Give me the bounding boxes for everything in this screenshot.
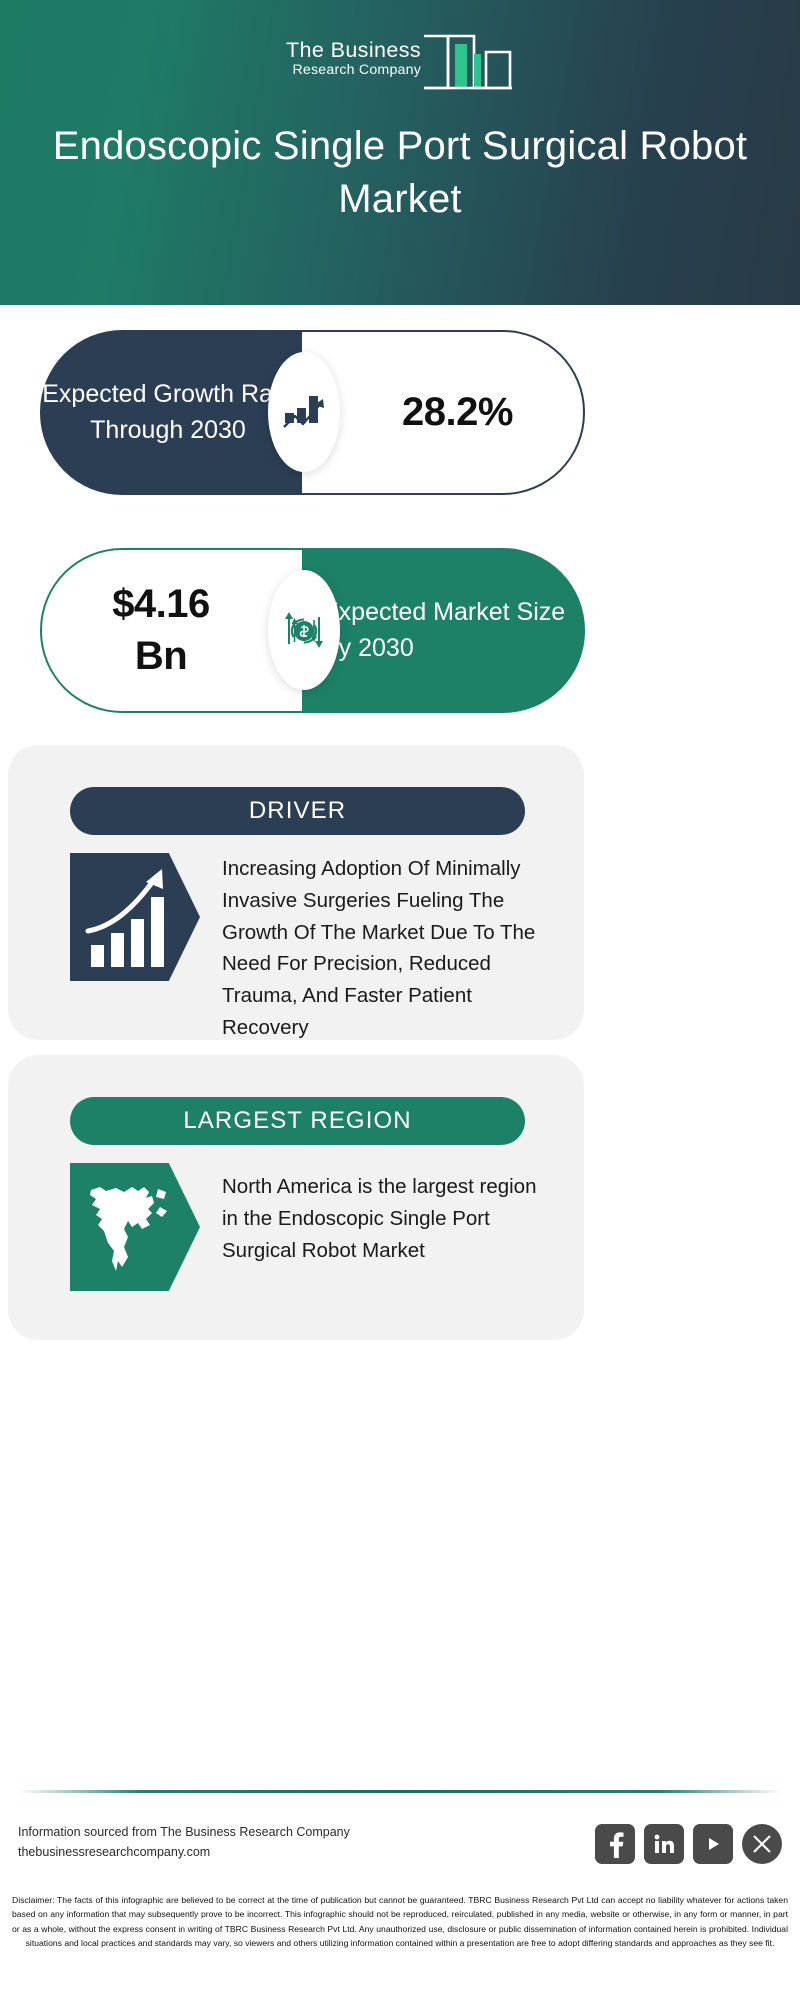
social-links [595,1824,782,1864]
stat-card-value: $4.16 Bn [112,579,232,681]
stat-card-label-side: Expected Growth Rate Through 2030 [40,330,302,495]
growth-chart-arrow-icon [268,352,340,472]
driver-panel: DRIVER Increasing Adoption Of Minimally … [8,745,584,1040]
largest-region-description: North America is the largest region in t… [222,1163,552,1266]
stat-card-market-size: $4.16 Bn Expected Market Size By 2030 [40,548,585,713]
header-banner: The Business Research Company Endoscopic… [0,0,800,305]
x-twitter-icon[interactable] [742,1824,782,1864]
driver-description: Increasing Adoption Of Minimally Invasiv… [222,853,552,1044]
north-america-map-icon [70,1163,200,1291]
stat-card-value: 28.2% [372,390,513,435]
footer-source-info: Information sourced from The Business Re… [18,1822,350,1863]
rising-bar-chart-icon [70,853,200,981]
stat-card-value-line-two: Bn [112,631,210,682]
largest-region-panel: LARGEST REGION North America is the larg… [8,1055,584,1340]
company-logo: The Business Research Company [286,18,514,90]
stat-card-value-side: 28.2% [302,330,585,495]
driver-heading-label: DRIVER [249,797,346,825]
infographic-page: The Business Research Company Endoscopic… [0,0,800,2000]
logo-wordmark: The Business Research Company [286,40,421,90]
logo-line-two: Research Company [292,62,421,78]
largest-region-body: North America is the largest region in t… [70,1163,552,1291]
driver-body: Increasing Adoption Of Minimally Invasiv… [70,853,552,1044]
footer-source-line-one: Information sourced from The Business Re… [18,1822,350,1842]
disclaimer-text: Disclaimer: The facts of this infographi… [12,1893,788,1950]
driver-heading-pill: DRIVER [70,787,525,835]
stat-card-label: Expected Market Size By 2030 [302,595,585,666]
stat-card-label-side: Expected Market Size By 2030 [302,548,585,713]
stat-card-value-line-one: $4.16 [112,579,210,630]
facebook-icon[interactable] [595,1824,635,1864]
page-title: Endoscopic Single Port Surgical Robot Ma… [50,120,750,226]
stat-card-growth-rate: Expected Growth Rate Through 2030 28.2% [40,330,585,495]
footer-source-url[interactable]: thebusinessresearchcompany.com [18,1842,350,1862]
footer-divider [18,1790,782,1793]
stat-card-label: Expected Growth Rate Through 2030 [40,377,302,448]
largest-region-heading-pill: LARGEST REGION [70,1097,525,1145]
youtube-icon[interactable] [693,1824,733,1864]
largest-region-heading-label: LARGEST REGION [183,1107,411,1135]
logo-line-one: The Business [286,40,421,62]
bar-chart-logo-mark [422,18,514,90]
linkedin-icon[interactable] [644,1824,684,1864]
dollar-cycle-icon [268,570,340,690]
stat-card-value-side: $4.16 Bn [40,548,302,713]
